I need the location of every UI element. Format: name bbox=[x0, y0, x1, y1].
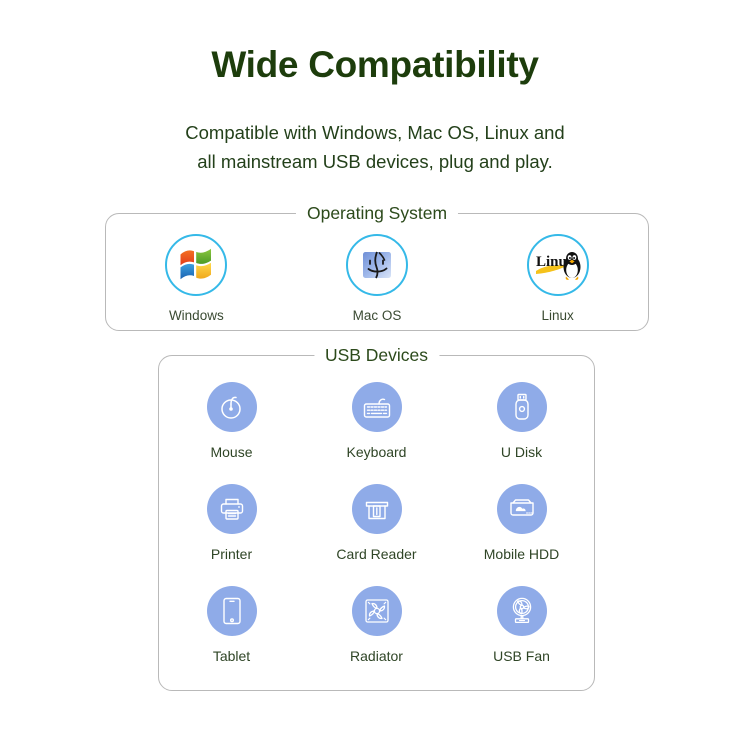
linux-tux-icon: Linux bbox=[533, 247, 583, 283]
usb-item-mouse[interactable]: Mouse bbox=[159, 382, 304, 484]
usb-icon-badge bbox=[352, 586, 402, 636]
usb-icon-badge bbox=[207, 586, 257, 636]
usb-devices-panel: USB Devices Mouse bbox=[158, 355, 595, 691]
mouse-icon bbox=[218, 393, 246, 421]
usb-devices-legend: USB Devices bbox=[314, 345, 439, 366]
usb-icon-badge bbox=[497, 382, 547, 432]
usb-devices-grid: Mouse Keyboard bbox=[159, 382, 594, 688]
usb-icon-badge bbox=[497, 586, 547, 636]
usb-icon-badge bbox=[352, 382, 402, 432]
usb-icon-badge bbox=[207, 382, 257, 432]
mac-finder-icon bbox=[359, 247, 395, 283]
operating-system-list: Windows bbox=[106, 234, 648, 323]
usb-item-label: U Disk bbox=[501, 444, 542, 460]
page-subtitle: Compatible with Windows, Mac OS, Linux a… bbox=[0, 118, 750, 176]
os-icon-ring bbox=[346, 234, 408, 296]
usb-item-card-reader[interactable]: Card Reader bbox=[304, 484, 449, 586]
usb-item-label: Mouse bbox=[210, 444, 252, 460]
card-reader-icon bbox=[363, 495, 391, 523]
usb-icon-badge bbox=[352, 484, 402, 534]
usb-item-label: Radiator bbox=[350, 648, 403, 664]
usb-icon-badge bbox=[207, 484, 257, 534]
usb-flash-drive-icon bbox=[509, 392, 535, 422]
keyboard-icon bbox=[362, 393, 392, 421]
os-item-linux[interactable]: Linux bbox=[483, 234, 633, 323]
windows-logo-icon bbox=[178, 248, 214, 282]
subtitle-line-1: Compatible with Windows, Mac OS, Linux a… bbox=[0, 118, 750, 147]
usb-item-keyboard[interactable]: Keyboard bbox=[304, 382, 449, 484]
usb-fan-icon bbox=[508, 596, 536, 626]
operating-system-panel: Operating System bbox=[105, 213, 649, 331]
operating-system-legend: Operating System bbox=[296, 203, 458, 224]
page-title: Wide Compatibility bbox=[0, 44, 750, 86]
os-item-macos[interactable]: Mac OS bbox=[302, 234, 452, 323]
usb-item-tablet[interactable]: Tablet bbox=[159, 586, 304, 688]
usb-item-mobile-hdd[interactable]: Mobile HDD bbox=[449, 484, 594, 586]
usb-item-udisk[interactable]: U Disk bbox=[449, 382, 594, 484]
usb-item-label: USB Fan bbox=[493, 648, 550, 664]
usb-item-label: Card Reader bbox=[336, 546, 416, 562]
os-item-label: Linux bbox=[542, 308, 574, 323]
usb-icon-badge bbox=[497, 484, 547, 534]
tablet-icon bbox=[220, 596, 244, 626]
os-item-label: Mac OS bbox=[353, 308, 402, 323]
usb-item-label: Printer bbox=[211, 546, 252, 562]
usb-item-label: Mobile HDD bbox=[484, 546, 559, 562]
compatibility-page: Wide Compatibility Compatible with Windo… bbox=[0, 0, 750, 750]
radiator-fan-icon bbox=[363, 597, 391, 625]
os-item-windows[interactable]: Windows bbox=[121, 234, 271, 323]
usb-item-printer[interactable]: Printer bbox=[159, 484, 304, 586]
subtitle-line-2: all mainstream USB devices, plug and pla… bbox=[0, 147, 750, 176]
printer-icon bbox=[218, 495, 246, 523]
mobile-hdd-icon bbox=[507, 496, 537, 522]
os-item-label: Windows bbox=[169, 308, 224, 323]
usb-item-label: Tablet bbox=[213, 648, 250, 664]
usb-item-radiator[interactable]: Radiator bbox=[304, 586, 449, 688]
usb-item-usb-fan[interactable]: USB Fan bbox=[449, 586, 594, 688]
os-icon-ring: Linux bbox=[527, 234, 589, 296]
os-icon-ring bbox=[165, 234, 227, 296]
usb-item-label: Keyboard bbox=[347, 444, 407, 460]
